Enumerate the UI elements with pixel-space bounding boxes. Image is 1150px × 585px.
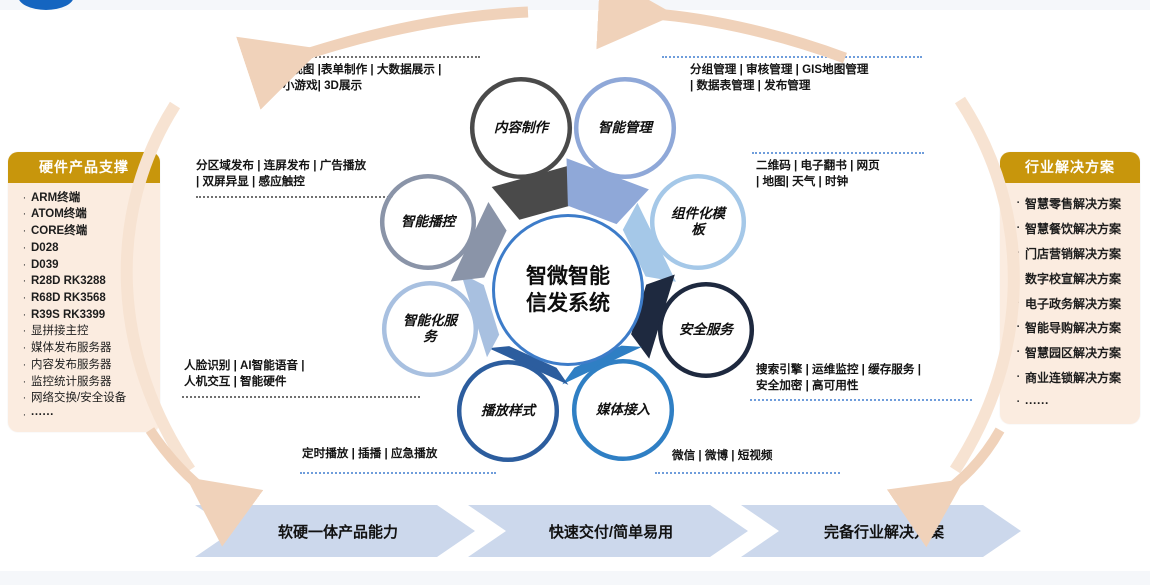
- industry-item-label: 门店营销解决方案: [1025, 248, 1134, 260]
- petal-label: 内容制作: [494, 120, 548, 136]
- bullet-icon: ·: [1012, 273, 1025, 285]
- bullet-icon: ·: [18, 293, 31, 305]
- petal-label: 安全服务: [679, 322, 733, 338]
- industry-item-label: 数字校宣解决方案: [1025, 273, 1134, 285]
- bullet-icon: ·: [18, 326, 31, 338]
- note-line-2: | 地图| 天气 | 时钟: [756, 174, 936, 190]
- note-component-template: 二维码 | 电子翻书 | 网页 | 地图| 天气 | 时钟: [756, 158, 936, 191]
- center-hub: 智微智能 信发系统: [492, 214, 644, 366]
- hardware-list-item: ·CORE终端: [18, 223, 154, 240]
- industry-list-item: ·智慧零售解决方案: [1012, 192, 1134, 217]
- top-strip: [0, 0, 1150, 10]
- leader-smart-broadcast: [196, 196, 404, 198]
- hardware-panel-title: 硬件产品支撑: [8, 152, 160, 183]
- leader-playback-style: [300, 472, 496, 474]
- hardware-item-label: 内容发布服务器: [31, 360, 154, 372]
- note-media-access: 微信 | 微博 | 短视频: [672, 448, 852, 464]
- bullet-icon: ·: [18, 377, 31, 389]
- bullet-icon: ·: [1012, 397, 1025, 409]
- petal-smart-broadcast[interactable]: 智能播控: [380, 174, 476, 270]
- industry-item-label: 电子政务解决方案: [1025, 298, 1134, 310]
- note-line-1: 分组管理 | 审核管理 | GIS地图管理: [690, 62, 928, 78]
- hardware-item-label: D039: [31, 260, 154, 272]
- hardware-item-label: ARM终端: [31, 193, 154, 205]
- note-line-1: 二维码 | 电子翻书 | 网页: [756, 158, 936, 174]
- petal-component-template[interactable]: 组件化模 板: [650, 174, 746, 270]
- note-line-1: 全景视图 |表单制作 | 大数据展示 |: [268, 62, 484, 78]
- petal-label: 智能化服 务: [403, 313, 457, 346]
- leader-component-template: [752, 152, 924, 154]
- bullet-icon: ·: [1012, 347, 1025, 359]
- bullet-icon: ·: [1012, 198, 1025, 210]
- bullet-icon: ·: [18, 276, 31, 288]
- hardware-list-item: ·监控统计服务器: [18, 374, 154, 391]
- bullet-icon: ·: [1012, 322, 1025, 334]
- chevron-label: 软硬一体产品能力: [272, 521, 398, 542]
- petal-media-access[interactable]: 媒体接入: [572, 359, 674, 461]
- petal-label: 媒体接入: [596, 402, 650, 418]
- hardware-item-label: ATOM终端: [31, 209, 154, 221]
- hardware-list-item: ·R68D RK3568: [18, 290, 154, 307]
- bullet-icon: ·: [18, 310, 31, 322]
- hardware-list-item: ·D039: [18, 257, 154, 274]
- note-line-1: 微信 | 微博 | 短视频: [672, 448, 852, 464]
- industry-list-item: ·数字校宣解决方案: [1012, 266, 1134, 291]
- hardware-item-label: R68D RK3568: [31, 293, 154, 305]
- industry-item-label: 商业连锁解决方案: [1025, 372, 1134, 384]
- bullet-icon: ·: [18, 260, 31, 272]
- hardware-item-label: R39S RK3399: [31, 310, 154, 322]
- hardware-list-item: ·ARM终端: [18, 190, 154, 207]
- hardware-list-item: ·······: [18, 408, 154, 425]
- chevron-label: 完备行业解决方案: [818, 521, 944, 542]
- hardware-item-label: 监控统计服务器: [31, 377, 154, 389]
- hardware-item-label: 显拼接主控: [31, 326, 154, 338]
- arrow-top-right: [640, 13, 845, 58]
- industry-panel-title: 行业解决方案: [1000, 152, 1140, 183]
- note-line-2: 人机交互 | 智能硬件: [184, 374, 416, 390]
- hardware-list-item: ·ATOM终端: [18, 207, 154, 224]
- note-line-1: 分区域发布 | 连屏发布 | 广告播放: [196, 158, 408, 174]
- petal-playback-style[interactable]: 播放样式: [457, 360, 559, 462]
- arrow-bottom-left: [150, 430, 212, 496]
- hardware-list-item: ·显拼接主控: [18, 324, 154, 341]
- note-line-1: 搜索引擎 | 运维监控 | 缓存服务 |: [756, 362, 976, 378]
- leader-media-access: [655, 472, 840, 474]
- petal-security-service[interactable]: 安全服务: [658, 282, 754, 378]
- industry-list-item: ·门店营销解决方案: [1012, 242, 1134, 267]
- bullet-icon: ·: [1012, 298, 1025, 310]
- bullet-icon: ·: [18, 226, 31, 238]
- industry-list-item: ·······: [1012, 390, 1134, 415]
- bullet-icon: ·: [18, 209, 31, 221]
- hardware-support-panel: 硬件产品支撑 ·ARM终端·ATOM终端·CORE终端·D028·D039·R2…: [8, 152, 160, 432]
- bullet-icon: ·: [18, 360, 31, 372]
- industry-item-label: 智慧餐饮解决方案: [1025, 223, 1134, 235]
- leader-smart-management: [662, 56, 922, 58]
- industry-item-label: ······: [1025, 397, 1134, 409]
- hardware-list-item: ·媒体发布服务器: [18, 341, 154, 358]
- petal-label: 智能播控: [401, 214, 455, 230]
- note-line-2: | 数据表管理 | 发布管理: [690, 78, 928, 94]
- note-security-service: 搜索引擎 | 运维监控 | 缓存服务 | 安全加密 | 高可用性: [756, 362, 976, 395]
- hardware-item-label: 媒体发布服务器: [31, 343, 154, 355]
- hardware-panel-list: ·ARM终端·ATOM终端·CORE终端·D028·D039·R28D RK32…: [8, 183, 160, 432]
- hardware-item-label: R28D RK3288: [31, 276, 154, 288]
- hardware-list-item: ·D028: [18, 240, 154, 257]
- note-line-1: 定时播放 | 插播 | 应急播放: [302, 446, 502, 462]
- hardware-list-item: ·网络交换/安全设备: [18, 391, 154, 408]
- petal-label: 播放样式: [481, 403, 535, 419]
- bullet-icon: ·: [18, 393, 31, 405]
- note-line-2: | 双屏异显 | 感应触控: [196, 174, 408, 190]
- petal-label: 智能管理: [598, 120, 652, 136]
- chevron-capability-2: 快速交付/简单易用: [468, 505, 748, 557]
- leader-content-production: [268, 56, 480, 58]
- logo-dot-icon: [18, 0, 74, 10]
- hardware-list-item: ·R28D RK3288: [18, 274, 154, 291]
- leader-security-service: [750, 399, 972, 401]
- note-line-2: H5小游戏| 3D展示: [268, 78, 484, 94]
- note-line-2: 安全加密 | 高可用性: [756, 378, 976, 394]
- industry-item-label: 智慧零售解决方案: [1025, 198, 1134, 210]
- hardware-list-item: ·内容发布服务器: [18, 357, 154, 374]
- note-intelligent-service: 人脸识别 | AI智能语音 | 人机交互 | 智能硬件: [184, 358, 416, 391]
- industry-list-item: ·智慧园区解决方案: [1012, 341, 1134, 366]
- hardware-item-label: D028: [31, 243, 154, 255]
- bullet-icon: ·: [18, 193, 31, 205]
- note-line-1: 人脸识别 | AI智能语音 |: [184, 358, 416, 374]
- hardware-list-item: ·R39S RK3399: [18, 307, 154, 324]
- hub-label: 智微智能 信发系统: [526, 263, 610, 318]
- petal-label: 组件化模 板: [671, 206, 725, 239]
- bullet-icon: ·: [1012, 223, 1025, 235]
- bullet-icon: ·: [18, 343, 31, 355]
- industry-list-item: ·电子政务解决方案: [1012, 291, 1134, 316]
- industry-list-item: ·智慧餐饮解决方案: [1012, 217, 1134, 242]
- hardware-item-label: ······: [31, 410, 154, 422]
- arrow-bottom-right: [938, 430, 1000, 497]
- petal-content-production[interactable]: 内容制作: [470, 77, 572, 179]
- diagram-canvas: 智微智能 信发系统 内容制作智能管理组件化模 板安全服务媒体接入播放样式智能化服…: [0, 0, 1150, 585]
- industry-solutions-panel: 行业解决方案 ·智慧零售解决方案·智慧餐饮解决方案·门店营销解决方案·数字校宣解…: [1000, 152, 1140, 424]
- bullet-icon: ·: [1012, 248, 1025, 260]
- industry-list-item: ·智能导购解决方案: [1012, 316, 1134, 341]
- note-playback-style: 定时播放 | 插播 | 应急播放: [302, 446, 502, 462]
- bullet-icon: ·: [1012, 372, 1025, 384]
- hardware-item-label: 网络交换/安全设备: [31, 393, 154, 405]
- industry-item-label: 智慧园区解决方案: [1025, 347, 1134, 359]
- hardware-item-label: CORE终端: [31, 226, 154, 238]
- industry-list-item: ·商业连锁解决方案: [1012, 365, 1134, 390]
- chevron-label: 快速交付/简单易用: [543, 521, 673, 542]
- note-smart-broadcast: 分区域发布 | 连屏发布 | 广告播放 | 双屏异显 | 感应触控: [196, 158, 408, 191]
- industry-panel-list: ·智慧零售解决方案·智慧餐饮解决方案·门店营销解决方案·数字校宣解决方案·电子政…: [1000, 183, 1140, 424]
- chevron-capability-1: 软硬一体产品能力: [195, 505, 475, 557]
- arrow-top-left: [288, 12, 528, 60]
- note-content-production: 全景视图 |表单制作 | 大数据展示 | H5小游戏| 3D展示: [268, 62, 484, 95]
- bullet-icon: ·: [18, 243, 31, 255]
- industry-item-label: 智能导购解决方案: [1025, 322, 1134, 334]
- bullet-icon: ·: [18, 410, 31, 422]
- note-smart-management: 分组管理 | 审核管理 | GIS地图管理 | 数据表管理 | 发布管理: [690, 62, 928, 95]
- petal-intelligent-service[interactable]: 智能化服 务: [382, 281, 478, 377]
- chevron-capability-3: 完备行业解决方案: [741, 505, 1021, 557]
- bottom-strip: [0, 571, 1150, 585]
- leader-intelligent-service: [182, 396, 420, 398]
- petal-smart-management[interactable]: 智能管理: [574, 77, 676, 179]
